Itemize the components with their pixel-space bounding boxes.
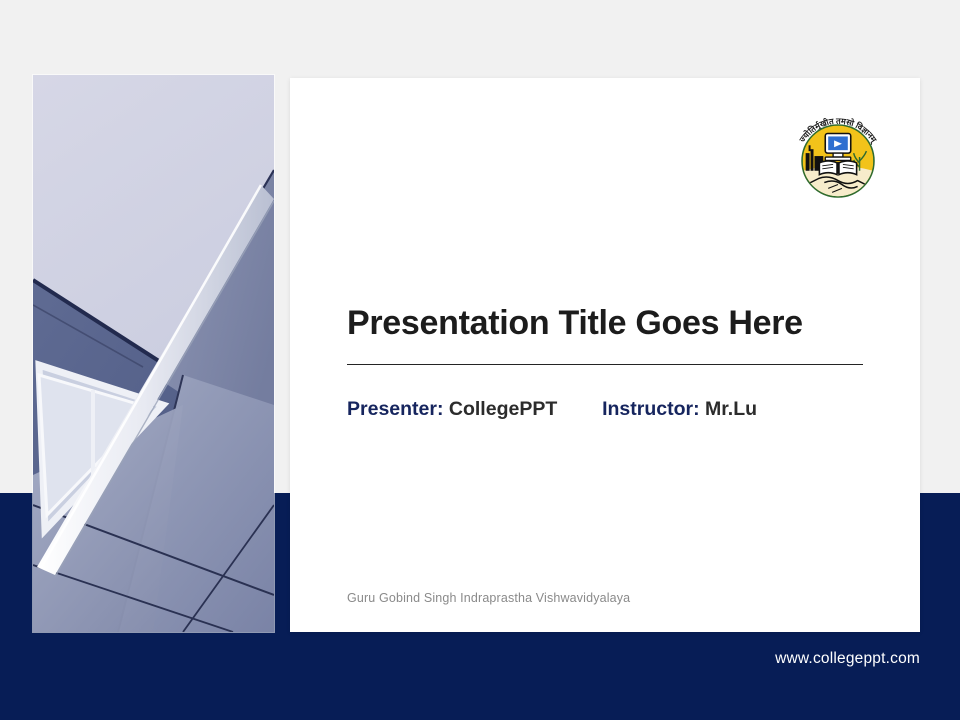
instructor-value: Mr.Lu: [705, 398, 757, 420]
title-divider: [347, 364, 863, 365]
presenter-value: CollegePPT: [449, 398, 557, 420]
ggsipu-emblem-icon: ज्योतिर्मुखीत तमसो विज्ञानम्: [789, 110, 887, 208]
presentation-slide: www.collegeppt.com: [0, 0, 960, 720]
slide-content-card: ज्योतिर्मुखीत तमसो विज्ञानम्: [290, 78, 920, 632]
footer-url[interactable]: www.collegeppt.com: [775, 650, 920, 668]
presenter-label: Presenter:: [347, 398, 443, 420]
university-caption: Guru Gobind Singh Indraprastha Vishwavid…: [347, 591, 630, 605]
abstract-architecture-photo: [33, 75, 274, 632]
instructor-label: Instructor:: [602, 398, 700, 420]
credits-line: Presenter: CollegePPT Instructor: Mr.Lu: [347, 398, 757, 421]
page-title: Presentation Title Goes Here: [347, 304, 877, 343]
